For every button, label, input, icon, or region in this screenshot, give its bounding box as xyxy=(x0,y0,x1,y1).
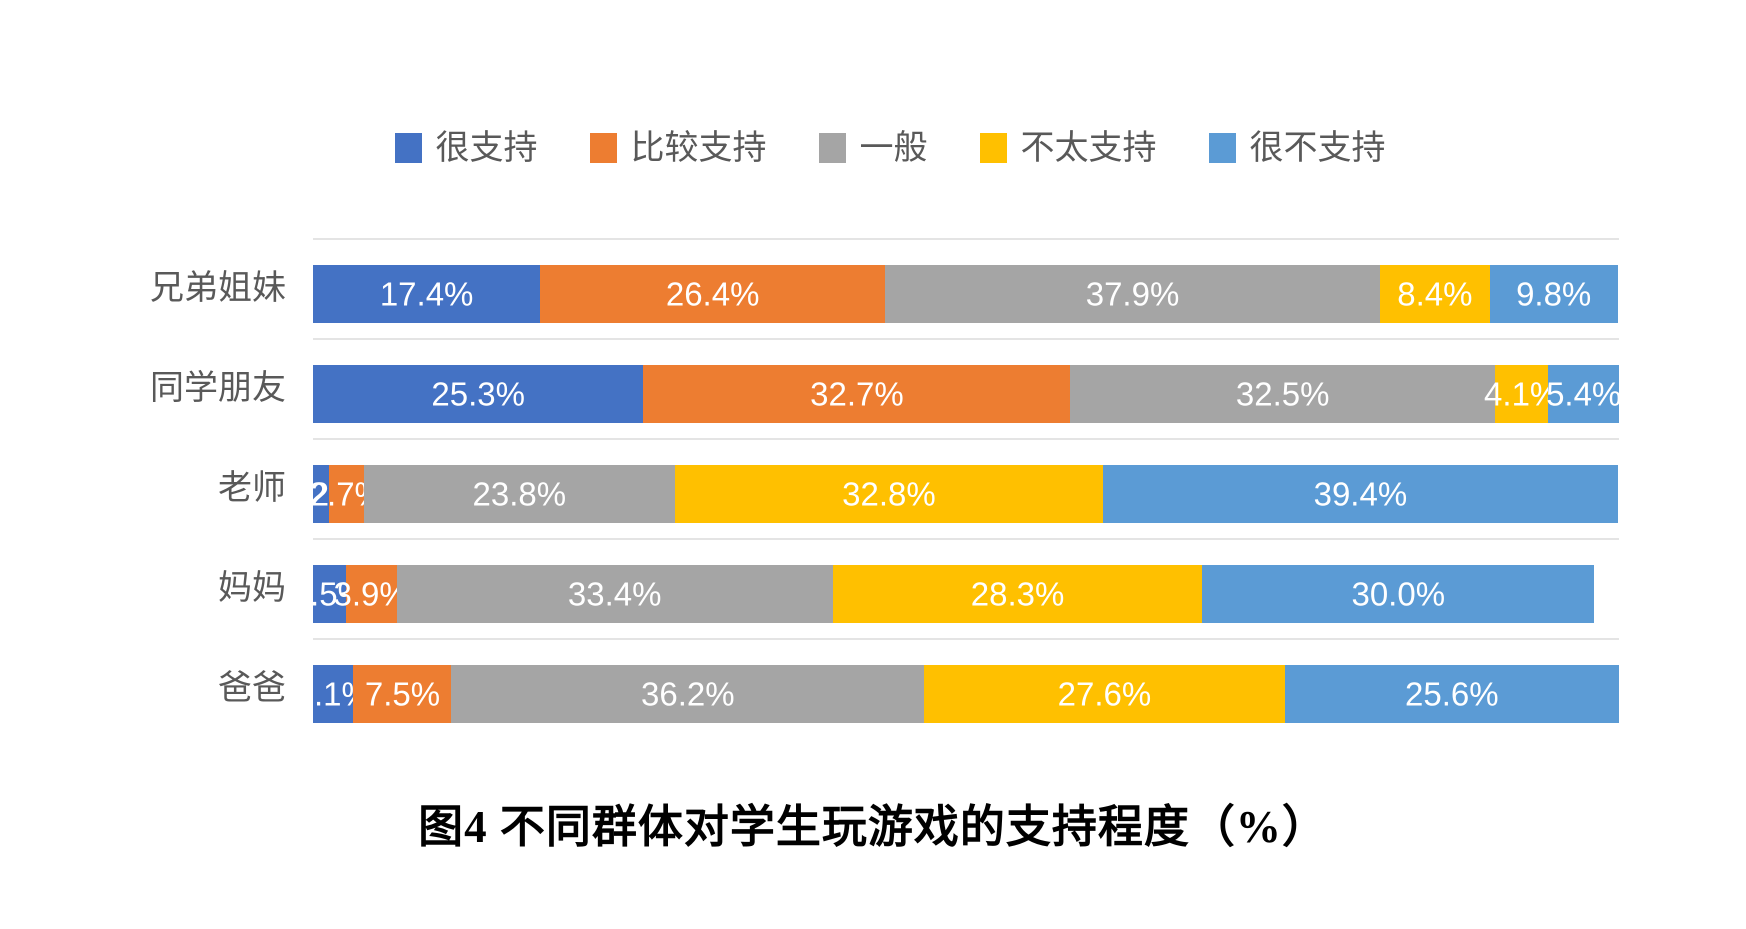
bar-segment-label: 8.4% xyxy=(1397,278,1472,311)
category-label-3: 妈妈 xyxy=(218,571,286,605)
bar-segment-label: 32.5% xyxy=(1236,378,1330,411)
bar-segment-label: 32.7% xyxy=(810,378,904,411)
bar-segment-label: 26.4% xyxy=(666,278,760,311)
bar-segment[interactable]: 4.1% xyxy=(1495,365,1549,423)
legend-item-4[interactable]: 很不支持 xyxy=(1209,131,1386,165)
bar-segment[interactable]: 28.3% xyxy=(833,565,1203,623)
legend-item-3[interactable]: 不太支持 xyxy=(980,131,1157,165)
stacked-bar-row: 3.1%7.5%36.2%27.6%25.6% xyxy=(313,665,1619,723)
bar-segment[interactable]: 17.4% xyxy=(313,265,540,323)
bar-segment[interactable]: 25.3% xyxy=(313,365,643,423)
legend-swatch-icon xyxy=(590,133,617,163)
bar-segment[interactable]: 5.4% xyxy=(1548,365,1619,423)
bar-segment[interactable]: 37.9% xyxy=(885,265,1380,323)
bar-segment[interactable]: 1.2% xyxy=(313,465,329,523)
bar-segment-label: 30.0% xyxy=(1351,578,1445,611)
stacked-bar-row: 17.4%26.4%37.9%8.4%9.8% xyxy=(313,265,1619,323)
bar-segment-label: 32.8% xyxy=(842,478,936,511)
category-label-4: 爸爸 xyxy=(218,671,286,705)
bar-segment[interactable]: 2.5% xyxy=(313,565,346,623)
bar-segment-label: 9.8% xyxy=(1516,278,1591,311)
bar-segment-label: 27.6% xyxy=(1058,678,1152,711)
stacked-bar-row: 2.5%3.9%33.4%28.3%30.0% xyxy=(313,565,1619,623)
category-label-0: 兄弟姐妹 xyxy=(150,271,286,305)
bar-segment-label: 28.3% xyxy=(971,578,1065,611)
bar-segment-label: 5.4% xyxy=(1546,378,1621,411)
bar-segment[interactable]: 9.8% xyxy=(1490,265,1618,323)
bar-segment-label: 33.4% xyxy=(568,578,662,611)
category-label-1: 同学朋友 xyxy=(150,371,286,405)
bar-segment[interactable]: 33.4% xyxy=(397,565,833,623)
legend-swatch-icon xyxy=(1209,133,1236,163)
stacked-bar-row: 1.2%2.7%23.8%32.8%39.4% xyxy=(313,465,1619,523)
legend-swatch-icon xyxy=(819,133,846,163)
legend-item-2[interactable]: 一般 xyxy=(819,131,928,165)
bar-segment-label: 23.8% xyxy=(473,478,567,511)
bar-segment[interactable]: 32.7% xyxy=(643,365,1070,423)
legend-label: 很支持 xyxy=(436,131,538,165)
bar-segment-label: 37.9% xyxy=(1086,278,1180,311)
category-label-2: 老师 xyxy=(218,471,286,505)
bar-segment[interactable]: 3.1% xyxy=(313,665,353,723)
stacked-bar-row: 25.3%32.7%32.5%4.1%5.4% xyxy=(313,365,1619,423)
bar-segment[interactable]: 23.8% xyxy=(364,465,675,523)
bar-segment[interactable]: 26.4% xyxy=(540,265,885,323)
chart-legend: 很支持比较支持一般不太支持很不支持 xyxy=(300,118,1480,178)
stacked-bars-area: 17.4%26.4%37.9%8.4%9.8%25.3%32.7%32.5%4.… xyxy=(313,238,1619,738)
legend-label: 一般 xyxy=(860,131,928,165)
bar-segment[interactable]: 27.6% xyxy=(924,665,1284,723)
legend-swatch-icon xyxy=(395,133,422,163)
bar-segment[interactable]: 3.9% xyxy=(346,565,397,623)
category-axis-labels: 兄弟姐妹同学朋友老师妈妈爸爸 xyxy=(140,238,300,738)
bar-segment[interactable]: 30.0% xyxy=(1202,565,1594,623)
legend-item-0[interactable]: 很支持 xyxy=(395,131,538,165)
figure-container: 很支持比较支持一般不太支持很不支持 兄弟姐妹同学朋友老师妈妈爸爸 17.4%26… xyxy=(0,0,1746,929)
legend-label: 不太支持 xyxy=(1021,131,1157,165)
bar-segment-label: 17.4% xyxy=(380,278,474,311)
legend-label: 比较支持 xyxy=(631,131,767,165)
bar-segment[interactable]: 32.8% xyxy=(675,465,1103,523)
bar-segment[interactable]: 8.4% xyxy=(1380,265,1490,323)
bar-segment[interactable]: 2.7% xyxy=(329,465,364,523)
legend-label: 很不支持 xyxy=(1250,131,1386,165)
legend-item-1[interactable]: 比较支持 xyxy=(590,131,767,165)
bar-segment[interactable]: 39.4% xyxy=(1103,465,1618,523)
bar-segment[interactable]: 7.5% xyxy=(353,665,451,723)
bar-segment[interactable]: 25.6% xyxy=(1285,665,1619,723)
bar-segment-label: 39.4% xyxy=(1314,478,1408,511)
bar-segment[interactable]: 36.2% xyxy=(451,665,924,723)
figure-caption: 图4 不同群体对学生玩游戏的支持程度（%） xyxy=(0,790,1746,855)
bar-segment-label: 25.6% xyxy=(1405,678,1499,711)
bar-segment-label: 25.3% xyxy=(431,378,525,411)
legend-swatch-icon xyxy=(980,133,1007,163)
bar-segment-label: 7.5% xyxy=(365,678,440,711)
bar-segment-label: 36.2% xyxy=(641,678,735,711)
bar-segment[interactable]: 32.5% xyxy=(1070,365,1494,423)
